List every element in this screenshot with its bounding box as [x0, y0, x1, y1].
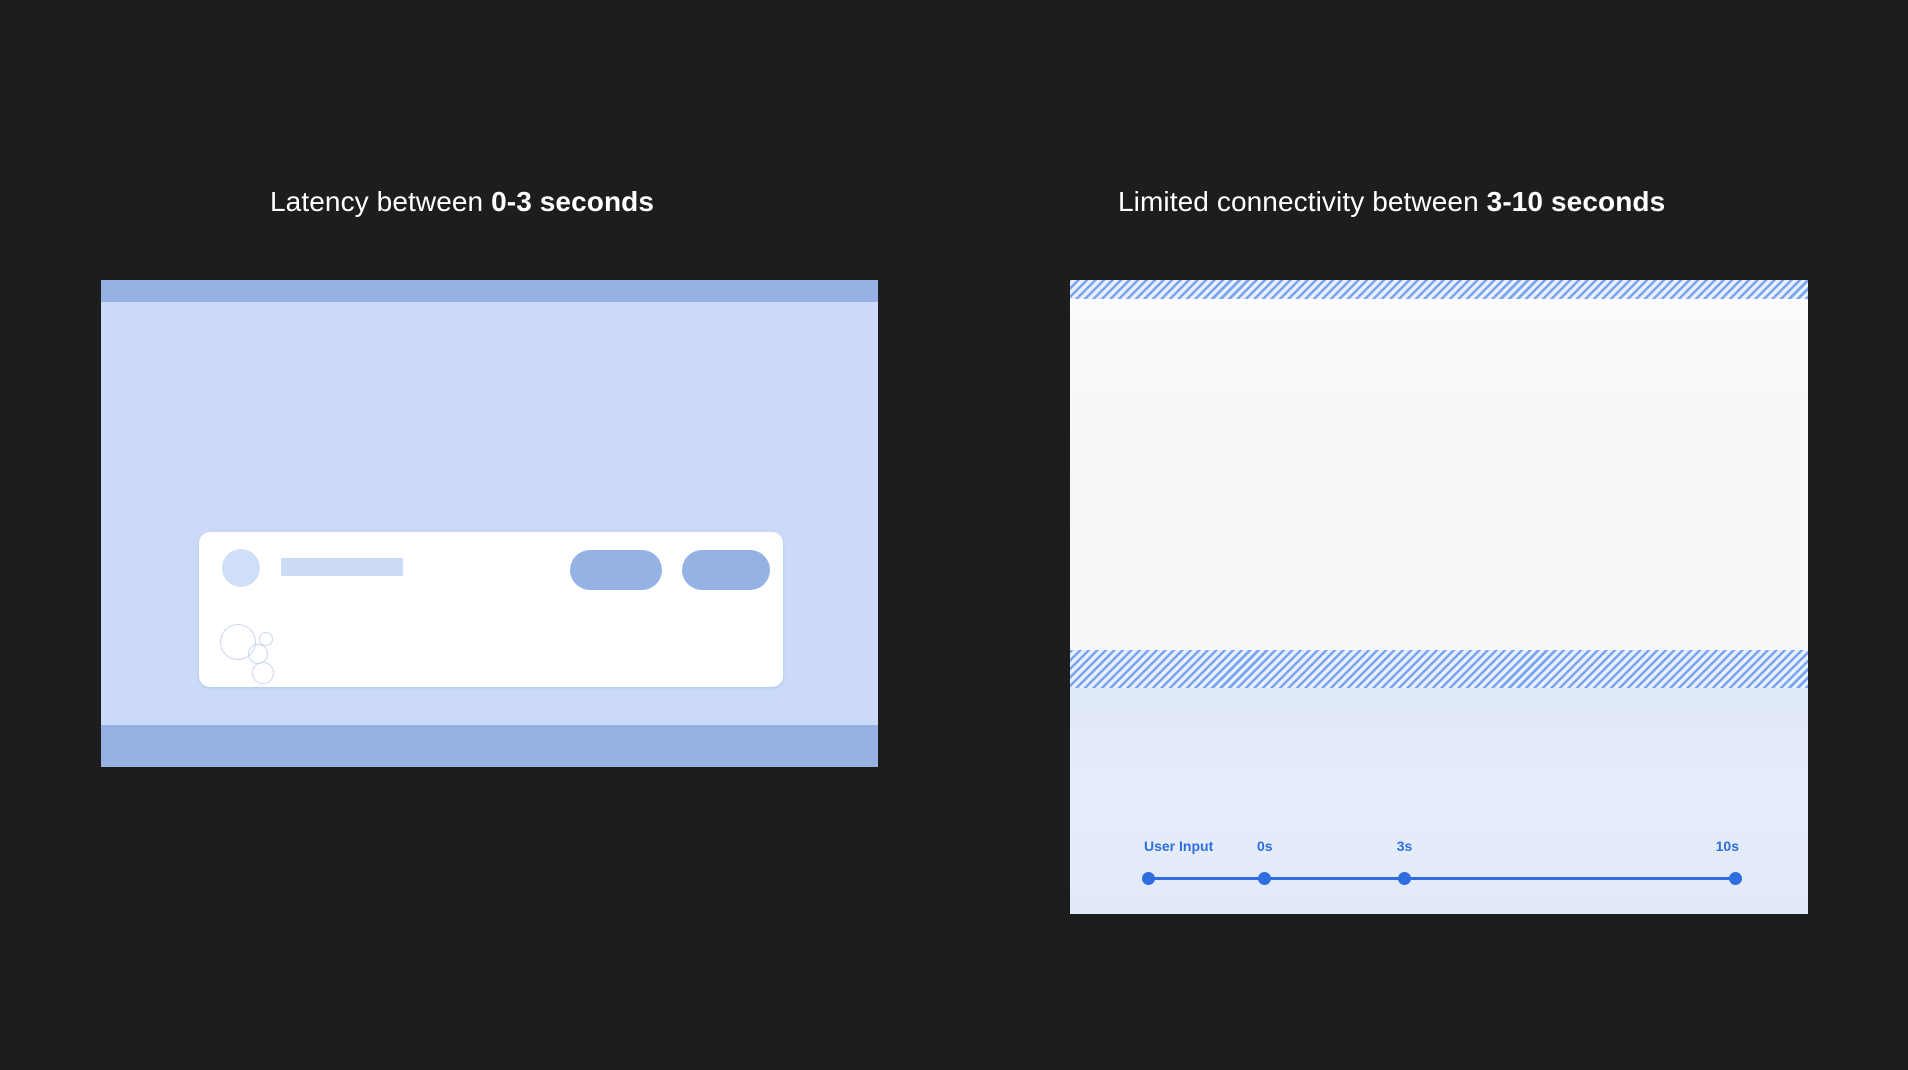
connectivity-preview-panel: User Input0s3s10s	[1070, 280, 1808, 914]
right-panel-content-area	[1070, 299, 1808, 650]
right-title-emphasis: 3-10 seconds	[1487, 186, 1666, 217]
bubble-bottom-icon	[252, 662, 274, 684]
right-panel-lower-area: User Input0s3s10s	[1070, 688, 1808, 914]
bubble-medium-icon	[248, 644, 268, 664]
timeline-node[interactable]	[1398, 872, 1411, 885]
right-panel-top-hatch-bar	[1070, 280, 1808, 299]
timeline-node-label: User Input	[1144, 839, 1213, 853]
timeline-node[interactable]	[1729, 872, 1742, 885]
timeline-node-label: 3s	[1397, 839, 1413, 853]
right-panel-title: Limited connectivity between 3-10 second…	[1118, 188, 1665, 216]
left-panel-title: Latency between 0-3 seconds	[270, 188, 654, 216]
bubble-decoration-group	[215, 620, 295, 680]
right-title-prefix: Limited connectivity between	[1118, 186, 1487, 217]
card-primary-action-button[interactable]	[570, 550, 662, 590]
timeline-track	[1148, 877, 1735, 880]
content-card[interactable]	[199, 532, 783, 687]
left-title-prefix: Latency between	[270, 186, 491, 217]
left-panel-top-bar	[101, 280, 878, 302]
right-panel-middle-hatch-bar	[1070, 650, 1808, 688]
timeline-node-label: 10s	[1716, 839, 1739, 853]
latency-preview-panel	[101, 280, 878, 767]
card-title-placeholder	[281, 558, 403, 576]
left-panel-bottom-bar	[101, 725, 878, 767]
timeline-node[interactable]	[1258, 872, 1271, 885]
left-title-emphasis: 0-3 seconds	[491, 186, 654, 217]
timeline-node-label: 0s	[1257, 839, 1273, 853]
page-root: Latency between 0-3 seconds Limite	[0, 0, 1908, 1070]
timeline-node[interactable]	[1142, 872, 1155, 885]
card-secondary-action-button[interactable]	[682, 550, 770, 590]
avatar	[222, 549, 260, 587]
latency-timeline[interactable]: User Input0s3s10s	[1148, 839, 1735, 895]
